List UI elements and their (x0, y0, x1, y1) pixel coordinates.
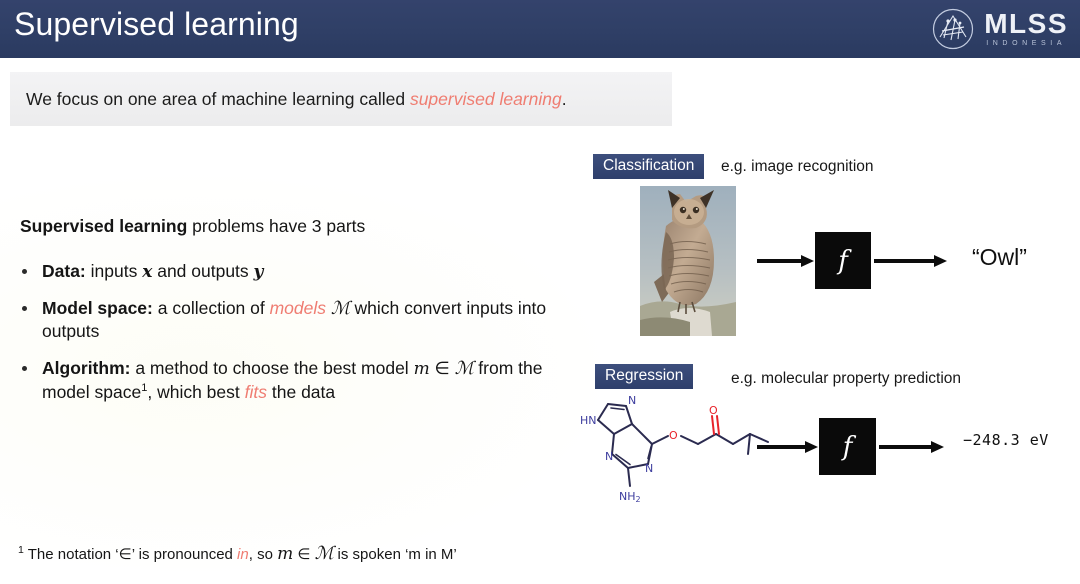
bullet-label: Model space: (42, 298, 153, 318)
bullet-item: Algorithm: a method to choose the best m… (20, 357, 580, 403)
slide-canvas: Supervised learning MLSS INDO (0, 0, 1080, 584)
logo-text: MLSS INDONESIA (984, 11, 1068, 47)
arrow-output-classification (874, 253, 948, 274)
molecule-label-o-ether: O (669, 429, 678, 442)
owl-photo (640, 186, 736, 336)
bullet-text-segment: ∈ (430, 358, 455, 378)
footnote-in-symbol: ∈ (293, 546, 314, 563)
molecule-label-hn: HN (580, 414, 597, 427)
bullet-text-segment: fits (245, 382, 267, 402)
function-box-regression: f (819, 418, 876, 475)
footnote-part3: is spoken ‘m in M’ (333, 546, 456, 563)
footnote-part1: The notation ‘∈’ is pronounced (24, 546, 237, 563)
bullet-text-segment: models (270, 298, 326, 318)
caption-regression: e.g. molecular property prediction (731, 370, 961, 388)
molecule-label-o-carbonyl: O (709, 404, 718, 417)
mlss-logo: MLSS INDONESIA (931, 6, 1068, 52)
footnote-part2: , so (249, 546, 277, 563)
bullet-list: Data: inputs x and outputs yModel space:… (20, 260, 580, 417)
output-label-classification: “Owl” (972, 244, 1027, 271)
body-intro-line: Supervised learning problems have 3 part… (20, 216, 365, 237)
bullet-text-segment: the data (267, 382, 335, 402)
function-box-classification: f (815, 232, 871, 289)
bullet-text-segment: a collection of (153, 298, 270, 318)
body-intro-bold: Supervised learning (20, 216, 187, 236)
logo-subtitle: INDONESIA (986, 40, 1066, 47)
arrow-input-regression (757, 439, 819, 460)
logo-wordmark: MLSS (984, 11, 1068, 38)
molecule-label-n3: N (645, 462, 653, 475)
lead-text-before: We focus on one area of machine learning… (26, 89, 410, 109)
bullet-text-segment: ℳ (331, 298, 350, 319)
output-label-regression: −248.3 eV (963, 431, 1049, 449)
bullet-item: Data: inputs x and outputs y (20, 260, 580, 283)
bullet-dot-icon (22, 366, 27, 371)
lead-statement-banner: We focus on one area of machine learning… (10, 72, 672, 126)
molecule-label-n1: N (605, 450, 613, 463)
molecule-label-nh2: NH2 (619, 490, 641, 504)
bullet-text-segment: , which best (147, 382, 244, 402)
logo-emblem-icon (931, 7, 975, 51)
body-intro-rest: problems have 3 parts (187, 216, 365, 236)
arrow-input-classification (757, 253, 815, 274)
lead-text-after: . (562, 89, 567, 109)
caption-classification: e.g. image recognition (721, 158, 874, 176)
bullet-text-segment: ℳ (455, 358, 474, 379)
bullet-item: Model space: a collection of models ℳ wh… (20, 297, 580, 343)
bullet-label: Data: (42, 261, 86, 281)
bullet-text-segment: and outputs (152, 261, 253, 281)
status-badge-classification: Classification (593, 154, 704, 179)
lead-text-highlight: supervised learning (410, 89, 562, 109)
molecule-label-n-imidazole: N (628, 394, 636, 407)
bullet-text-segment: x (142, 262, 152, 282)
bullet-dot-icon (22, 269, 27, 274)
lead-statement-text: We focus on one area of machine learning… (10, 89, 567, 110)
status-badge-regression: Regression (595, 364, 693, 389)
footnote-math-cal: ℳ (315, 543, 334, 564)
footnote-math-m: m (277, 544, 293, 564)
bullet-text-segment: a method to choose the best model (130, 358, 413, 378)
footnote: 1 The notation ‘∈’ is pronounced in, so … (18, 543, 457, 564)
page-title: Supervised learning (14, 6, 299, 43)
bullet-text-segment: inputs (86, 261, 142, 281)
bullet-label: Algorithm: (42, 358, 130, 378)
bullet-text-segment: m (414, 359, 430, 379)
slide-header-bar: Supervised learning MLSS INDO (0, 0, 1080, 58)
arrow-output-regression (879, 439, 945, 460)
bullet-text-segment: y (254, 262, 264, 282)
bullet-dot-icon (22, 306, 27, 311)
footnote-italic: in (237, 546, 249, 563)
